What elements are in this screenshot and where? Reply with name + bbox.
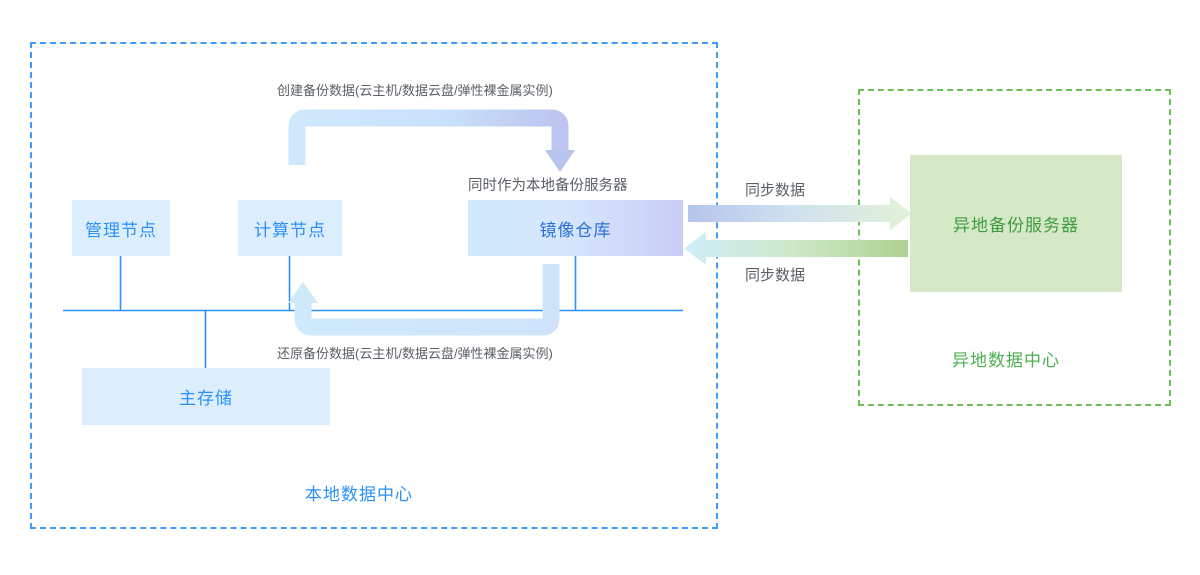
label-sync-data-inbound: 同步数据 (745, 264, 805, 285)
label-local-data-center: 本地数据中心 (305, 480, 413, 505)
label-sync-data-outbound: 同步数据 (745, 179, 805, 200)
node-remote-backup-server[interactable]: 异地备份服务器 (910, 155, 1122, 292)
caption-create-backup: 创建备份数据(云主机/数据云盘/弹性裸金属实例) (277, 80, 553, 99)
architecture-diagram: 管理节点 计算节点 镜像仓库 主存储 异地备份服务器 创建备份数据(云主机/数据… (0, 0, 1200, 575)
node-primary-storage[interactable]: 主存储 (82, 368, 330, 425)
caption-registry-also-local-backup-server: 同时作为本地备份服务器 (468, 174, 628, 195)
caption-restore-backup: 还原备份数据(云主机/数据云盘/弹性裸金属实例) (277, 343, 553, 362)
node-management[interactable]: 管理节点 (72, 200, 170, 256)
label-remote-data-center: 异地数据中心 (952, 346, 1060, 371)
node-compute[interactable]: 计算节点 (238, 200, 342, 256)
zone-local-data-center (30, 42, 718, 529)
node-image-registry[interactable]: 镜像仓库 (468, 200, 683, 256)
